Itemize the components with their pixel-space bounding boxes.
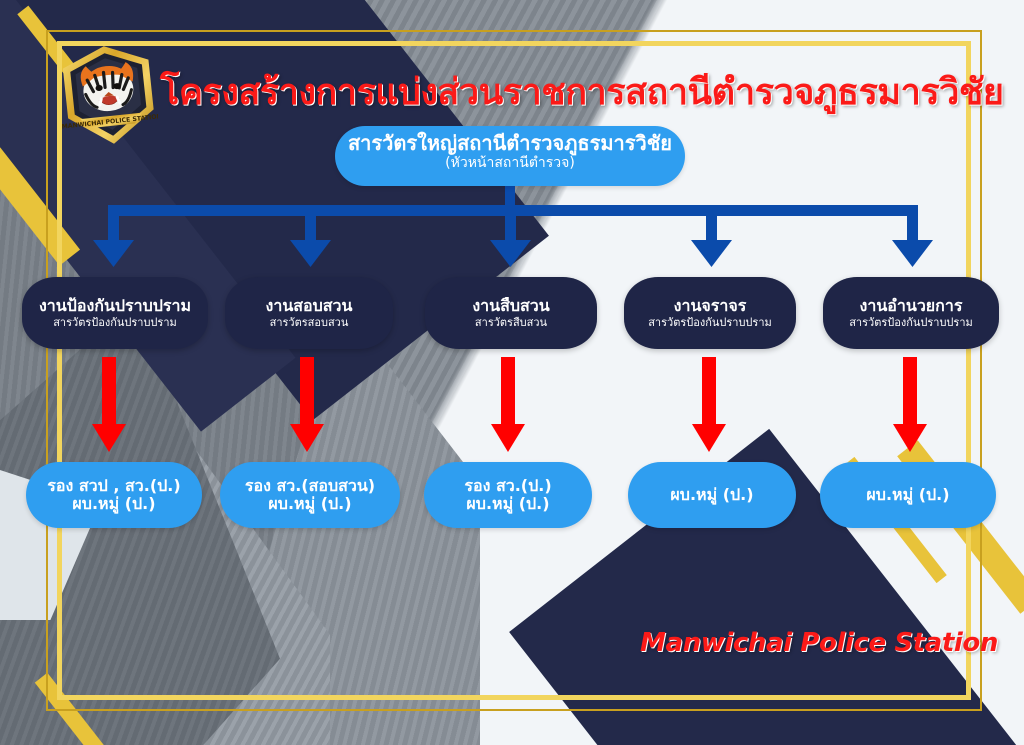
node-rank-line1: รอง สวป , สว.(ป.) [47, 477, 180, 495]
node-subtitle: (หัวหน้าสถานีตำรวจ) [445, 156, 575, 171]
node-department-investigation[interactable]: งานสอบสวน สารวัตรสอบสวน [225, 277, 393, 349]
node-subtitle: สารวัตรสืบสวน [475, 317, 547, 329]
node-department-traffic[interactable]: งานจราจร สารวัตรป้องกันปราบปราม [624, 277, 796, 349]
organizational-chart-poster: MANWICHAI POLICE STATION โครงสร้างการแบ่… [0, 0, 1024, 745]
node-rank-administration[interactable]: ผบ.หมู่ (ป.) [820, 462, 996, 528]
node-title: สารวัตรใหญ่สถานีตำรวจภูธรมารวิชัย [348, 132, 672, 154]
station-name-footer: Manwichai Police Station [640, 628, 998, 658]
node-subtitle: สารวัตรป้องกันปราบปราม [53, 317, 177, 329]
node-station-chief[interactable]: สารวัตรใหญ่สถานีตำรวจภูธรมารวิชัย (หัวหน… [335, 126, 685, 186]
page-title: โครงสร้างการแบ่งส่วนราชการสถานีตำรวจภูธร… [160, 63, 940, 120]
node-rank-traffic[interactable]: ผบ.หมู่ (ป.) [628, 462, 796, 528]
node-rank-line2: ผบ.หมู่ (ป.) [72, 495, 155, 513]
node-title: งานสืบสวน [472, 297, 549, 315]
node-title: งานสอบสวน [266, 297, 353, 315]
node-rank-line1: ผบ.หมู่ (ป.) [670, 486, 753, 504]
node-title: งานอำนวยการ [860, 297, 963, 315]
node-subtitle: สารวัตรสอบสวน [270, 317, 349, 329]
tiger-badge-emblem: MANWICHAI POLICE STATION [60, 44, 158, 148]
node-title: งานป้องกันปราบปราม [39, 297, 191, 315]
node-rank-prevention-suppression[interactable]: รอง สวป , สว.(ป.) ผบ.หมู่ (ป.) [26, 462, 202, 528]
node-subtitle: สารวัตรป้องกันปราบปราม [849, 317, 973, 329]
node-department-inquiry[interactable]: งานสืบสวน สารวัตรสืบสวน [425, 277, 597, 349]
node-rank-line2: ผบ.หมู่ (ป.) [268, 495, 351, 513]
node-department-administration[interactable]: งานอำนวยการ สารวัตรป้องกันปราบปราม [823, 277, 999, 349]
node-rank-investigation[interactable]: รอง สว.(สอบสวน) ผบ.หมู่ (ป.) [220, 462, 400, 528]
node-rank-line1: รอง สว.(ป.) [464, 477, 551, 495]
node-department-prevention-suppression[interactable]: งานป้องกันปราบปราม สารวัตรป้องกันปราบปรา… [22, 277, 208, 349]
node-rank-line1: รอง สว.(สอบสวน) [245, 477, 375, 495]
node-subtitle: สารวัตรป้องกันปราบปราม [648, 317, 772, 329]
node-title: งานจราจร [674, 297, 747, 315]
node-rank-line2: ผบ.หมู่ (ป.) [466, 495, 549, 513]
node-rank-inquiry[interactable]: รอง สว.(ป.) ผบ.หมู่ (ป.) [424, 462, 592, 528]
node-rank-line1: ผบ.หมู่ (ป.) [866, 486, 949, 504]
